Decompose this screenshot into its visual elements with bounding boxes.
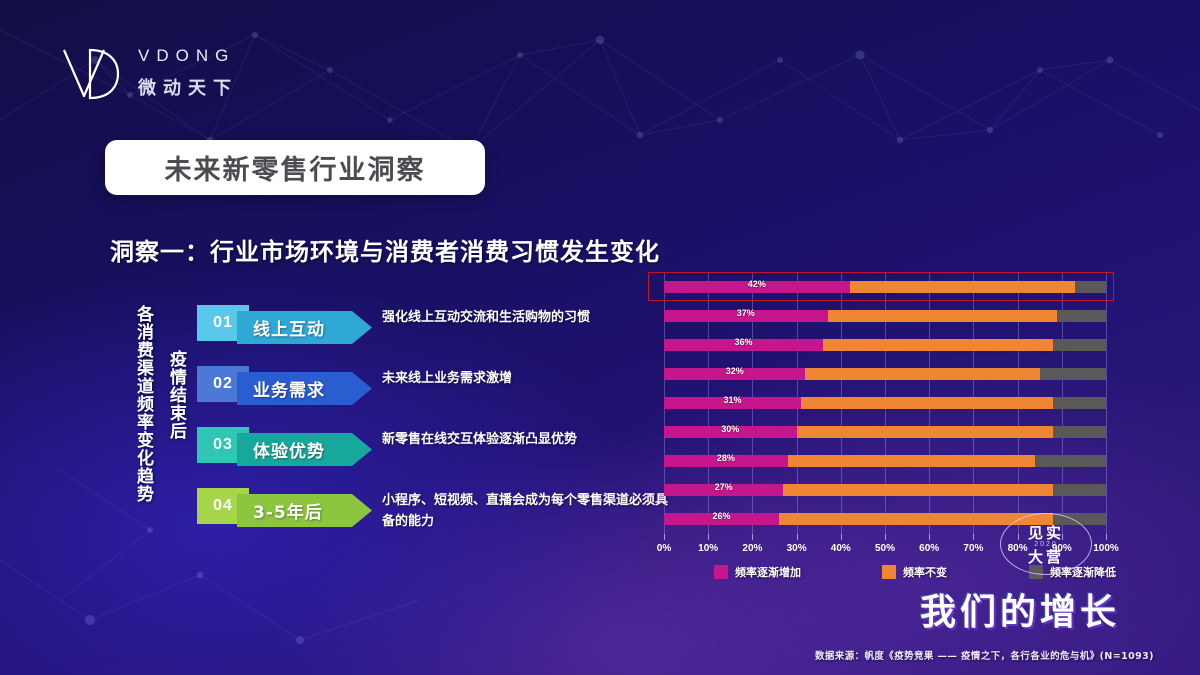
chart-data-label: 42% — [748, 279, 766, 289]
chart-x-tick — [797, 534, 798, 540]
chart-x-tick — [929, 534, 930, 540]
section-subtitle: 洞察一：行业市场环境与消费者消费习惯发生变化 — [110, 232, 660, 267]
chart-x-tick — [973, 534, 974, 540]
chart-bar-segment-2 — [788, 455, 1036, 467]
chart-bar-segment-2 — [797, 426, 1053, 438]
chart-bar-segment-2 — [850, 281, 1075, 293]
chart-bar-segment-3 — [1040, 368, 1106, 380]
chart-data-label: 30% — [721, 424, 739, 434]
chart-bar-segment-2 — [801, 397, 1053, 409]
source-note: 数据来源：帆度《疫势竞果 —— 疫情之下，各行各业的危与机》(N=1093) — [815, 648, 1154, 662]
chart-data-label: 27% — [715, 482, 733, 492]
chart-bar-row: 32% — [664, 368, 1106, 380]
chart-x-tick-label: 60% — [919, 543, 939, 554]
chart-data-label: 37% — [737, 308, 755, 318]
chart-bar-segment-2 — [783, 484, 1053, 496]
insight-label-text: 体验优势 — [253, 437, 325, 462]
chart-bar-row: 36% — [664, 339, 1106, 351]
chart-bar-row: 42% — [664, 281, 1106, 293]
chart-x-tick-label: 0% — [657, 543, 671, 554]
insight-description: 新零售在线交互体验逐渐凸显优势 — [382, 430, 672, 451]
stamp-top-text: 见实 — [1028, 522, 1064, 543]
growth-watermark: 我们的增长 — [920, 583, 1120, 635]
brand-logo: VDONG 微动天下 — [52, 36, 282, 114]
chart-x-tick-label: 50% — [875, 543, 895, 554]
chart-bar-row: 27% — [664, 484, 1106, 496]
legend-color-swatch — [714, 565, 728, 579]
vertical-label-left: 各消费渠道频率变化趋势 — [131, 305, 156, 503]
insight-label-arrow: 体验优势 — [237, 433, 372, 466]
chart-x-tick-label: 30% — [787, 543, 807, 554]
insight-label-arrow: 线上互动 — [237, 311, 372, 344]
logo-wordmark: VDONG — [138, 46, 235, 66]
chart-data-label: 31% — [723, 395, 741, 405]
chart-data-label: 26% — [712, 511, 730, 521]
chart-legend-item[interactable]: 频率不变 — [882, 564, 947, 580]
insight-description: 小程序、短视频、直播会成为每个零售渠道必须具备的能力 — [382, 491, 672, 533]
chart-bar-segment-3 — [1057, 310, 1106, 322]
chart-bar-segment-3 — [1053, 426, 1106, 438]
arrow-shadow-tab — [237, 405, 259, 412]
chart-bar-row: 31% — [664, 397, 1106, 409]
chart-bar-segment-3 — [1035, 455, 1106, 467]
insight-item-01[interactable]: 01线上互动强化线上互动交流和生活购物的习惯 — [197, 305, 667, 347]
insight-label-arrow: 业务需求 — [237, 372, 372, 405]
chart-x-tick-label: 20% — [742, 543, 762, 554]
chart-bar-segment-3 — [1053, 484, 1106, 496]
chart-x-tick-label: 10% — [698, 543, 718, 554]
insight-label-text: 3-5年后 — [253, 498, 323, 523]
chart-x-tick — [708, 534, 709, 540]
insight-description: 未来线上业务需求激增 — [382, 369, 672, 390]
insight-label-text: 线上互动 — [253, 315, 325, 340]
chart-legend-item[interactable]: 频率逐渐增加 — [714, 564, 801, 580]
vertical-label-right: 疫情结束后 — [164, 350, 189, 440]
chart-bar-segment-3 — [1053, 397, 1106, 409]
insight-item-03[interactable]: 03体验优势新零售在线交互体验逐渐凸显优势 — [197, 427, 667, 469]
chart-data-label: 32% — [726, 366, 744, 376]
chart-x-tick — [664, 534, 665, 540]
chart-bar-row: 28% — [664, 455, 1106, 467]
chart-bar-segment-3 — [1075, 281, 1106, 293]
insight-item-02[interactable]: 02业务需求未来线上业务需求激增 — [197, 366, 667, 408]
chart-plot-area: 42%37%36%32%31%30%28%27%26% — [664, 272, 1106, 534]
insight-label-arrow: 3-5年后 — [237, 494, 372, 527]
slide-root: VDONG 微动天下 未来新零售行业洞察 洞察一：行业市场环境与消费者消费习惯发… — [0, 0, 1200, 675]
legend-label: 频率不变 — [903, 564, 947, 580]
chart-gridline — [1106, 272, 1107, 534]
event-stamp: 见实 2020 大营 — [1000, 513, 1092, 575]
logo-chinese-name: 微动天下 — [138, 74, 238, 100]
chart-bar-segment-2 — [823, 339, 1053, 351]
page-title: 未来新零售行业洞察 — [165, 148, 426, 187]
legend-label: 频率逐渐增加 — [735, 564, 801, 580]
arrow-shadow-tab — [237, 527, 259, 534]
insight-description: 强化线上互动交流和生活购物的习惯 — [382, 308, 672, 329]
chart-bar-segment-2 — [805, 368, 1039, 380]
legend-color-swatch — [882, 565, 896, 579]
insight-label-text: 业务需求 — [253, 376, 325, 401]
vd-monogram-icon — [60, 44, 122, 104]
chart-x-tick-label: 100% — [1093, 543, 1119, 554]
arrow-shadow-tab — [237, 466, 259, 473]
chart-x-tick — [752, 534, 753, 540]
insight-list: 01线上互动强化线上互动交流和生活购物的习惯02业务需求未来线上业务需求激增03… — [197, 305, 667, 555]
chart-x-tick-label: 70% — [963, 543, 983, 554]
insight-item-04[interactable]: 043-5年后小程序、短视频、直播会成为每个零售渠道必须具备的能力 — [197, 488, 667, 530]
chart-data-label: 28% — [717, 453, 735, 463]
chart-bar-segment-2 — [828, 310, 1058, 322]
stamp-bottom-text: 大营 — [1028, 546, 1064, 567]
arrow-shadow-tab — [237, 344, 259, 351]
slide-title-pill: 未来新零售行业洞察 — [105, 140, 485, 195]
chart-bar-segment-3 — [1053, 339, 1106, 351]
chart-data-label: 36% — [735, 337, 753, 347]
chart-x-tick — [1106, 534, 1107, 540]
chart-bar-row: 37% — [664, 310, 1106, 322]
chart-x-tick — [841, 534, 842, 540]
chart-bar-row: 30% — [664, 426, 1106, 438]
chart-x-tick-label: 40% — [831, 543, 851, 554]
chart-x-tick — [885, 534, 886, 540]
